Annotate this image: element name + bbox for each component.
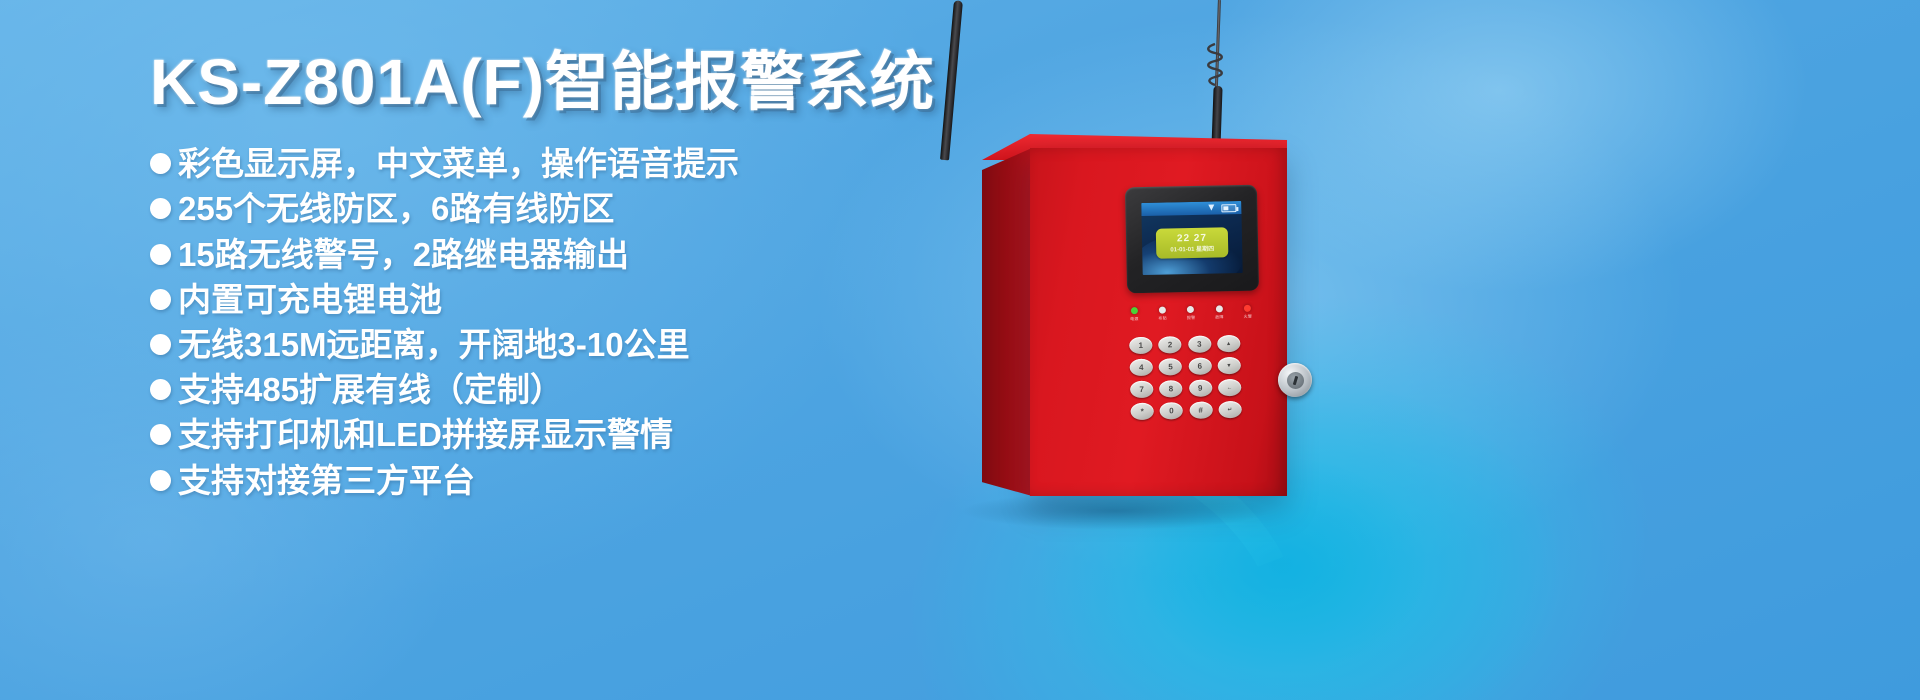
led-label: 报警 [1187, 315, 1196, 321]
filled-circle-bullet-icon [150, 244, 171, 265]
key-1[interactable]: 1 [1129, 337, 1152, 354]
key-down[interactable]: ▼ [1217, 357, 1240, 374]
led-indicator: 报警 [1187, 306, 1196, 321]
filled-circle-bullet-icon [150, 424, 171, 445]
keypad[interactable]: 1 2 3 ▲ 4 5 6 ▼ 7 8 9 ← * 0 # ↵ [1129, 335, 1243, 420]
product-image: 22 27 01-01-01 星期四 电源 布防 [940, 0, 1500, 700]
key-lock[interactable] [1278, 363, 1313, 398]
lcd-status-bar [1141, 201, 1241, 216]
lcd-screen[interactable]: 22 27 01-01-01 星期四 [1141, 201, 1242, 275]
list-item: 内置可充电锂电池 [150, 277, 970, 322]
feature-label: 无线315M远距离，开阔地3-10公里 [178, 322, 690, 367]
key-3[interactable]: 3 [1188, 335, 1211, 352]
led-label: 电源 [1130, 316, 1139, 322]
lcd-date: 01-01-01 星期四 [1170, 246, 1214, 253]
key-7[interactable]: 7 [1130, 381, 1153, 398]
enclosure-side-face [982, 148, 1032, 496]
list-item: 支持对接第三方平台 [150, 458, 970, 503]
filled-circle-bullet-icon [150, 153, 171, 174]
lcd-clock-card: 22 27 01-01-01 星期四 [1156, 227, 1229, 259]
power-led-icon [1131, 307, 1138, 314]
feature-label: 内置可充电锂电池 [178, 277, 442, 322]
list-item: 彩色显示屏，中文菜单，操作语音提示 [150, 141, 970, 186]
battery-icon [1221, 204, 1236, 212]
feature-label: 支持打印机和LED拼接屏显示警情 [178, 412, 673, 457]
enclosure: 22 27 01-01-01 星期四 电源 布防 [982, 148, 1287, 508]
right-antenna-coil-icon [1204, 42, 1226, 86]
feature-label: 支持对接第三方平台 [178, 458, 475, 503]
list-item: 255个无线防区，6路有线防区 [150, 186, 970, 231]
led-label: 故障 [1215, 314, 1224, 320]
led-label: 布防 [1158, 316, 1167, 322]
key-6[interactable]: 6 [1188, 357, 1211, 374]
feature-label: 支持485扩展有线（定制） [178, 367, 563, 412]
feature-label: 15路无线警号，2路继电器输出 [178, 232, 629, 277]
led-indicator: 故障 [1215, 305, 1224, 320]
key-hash[interactable]: # [1189, 401, 1212, 418]
fire-led-icon [1244, 305, 1251, 312]
key-up[interactable]: ▲ [1217, 335, 1240, 352]
list-item: 无线315M远距离，开阔地3-10公里 [150, 322, 970, 367]
key-0[interactable]: 0 [1160, 402, 1183, 419]
key-9[interactable]: 9 [1189, 379, 1212, 396]
list-item: 15路无线警号，2路继电器输出 [150, 232, 970, 277]
lcd-time: 22 27 [1177, 233, 1207, 244]
led-indicator: 布防 [1158, 307, 1167, 322]
signal-icon [1208, 205, 1215, 212]
feature-label: 彩色显示屏，中文菜单，操作语音提示 [178, 141, 739, 186]
filled-circle-bullet-icon [150, 289, 171, 310]
key-8[interactable]: 8 [1159, 380, 1182, 397]
product-banner: KS-Z801A(F)智能报警系统 彩色显示屏，中文菜单，操作语音提示 255个… [0, 0, 1920, 700]
left-antenna-icon [940, 0, 963, 160]
key-5[interactable]: 5 [1159, 358, 1182, 375]
feature-label: 255个无线防区，6路有线防区 [178, 186, 614, 231]
key-4[interactable]: 4 [1130, 359, 1153, 376]
key-star[interactable]: * [1131, 403, 1154, 420]
fault-led-icon [1216, 305, 1223, 312]
key-back[interactable]: ← [1218, 379, 1241, 396]
filled-circle-bullet-icon [150, 470, 171, 491]
led-indicator: 火警 [1243, 305, 1252, 320]
led-indicator-row: 电源 布防 报警 故障 [1130, 305, 1252, 323]
list-item: 支持485扩展有线（定制） [150, 367, 970, 412]
filled-circle-bullet-icon [150, 198, 171, 219]
enclosure-front-face: 22 27 01-01-01 星期四 电源 布防 [1030, 148, 1287, 496]
key-2[interactable]: 2 [1158, 336, 1181, 353]
key-enter[interactable]: ↵ [1218, 401, 1241, 418]
list-item: 支持打印机和LED拼接屏显示警情 [150, 412, 970, 457]
lock-core [1286, 371, 1303, 388]
filled-circle-bullet-icon [150, 379, 171, 400]
text-column: KS-Z801A(F)智能报警系统 彩色显示屏，中文菜单，操作语音提示 255个… [150, 48, 970, 503]
page-title: KS-Z801A(F)智能报警系统 [150, 48, 970, 117]
led-indicator: 电源 [1130, 307, 1139, 322]
display-bezel: 22 27 01-01-01 星期四 [1125, 185, 1259, 294]
filled-circle-bullet-icon [150, 334, 171, 355]
alarm-led-icon [1187, 306, 1194, 313]
arm-led-icon [1159, 307, 1166, 314]
feature-list: 彩色显示屏，中文菜单，操作语音提示 255个无线防区，6路有线防区 15路无线警… [150, 141, 970, 503]
lock-keyhole-icon [1293, 375, 1298, 384]
led-label: 火警 [1244, 314, 1253, 320]
